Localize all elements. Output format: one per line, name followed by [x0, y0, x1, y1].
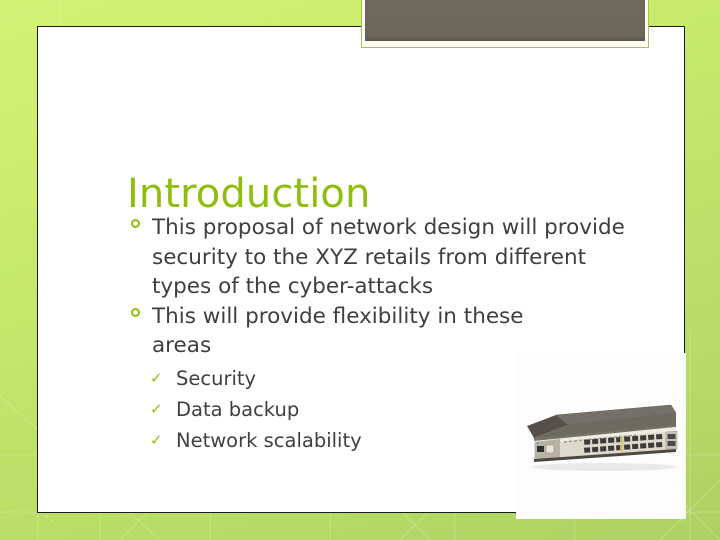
bullet-item-1: This proposal of network design will pro… [131, 213, 641, 302]
open-circle-bullet-icon [131, 213, 152, 228]
top-banner-image [365, 0, 645, 41]
check-mark-icon: ✓ [150, 425, 176, 456]
bullet-text-2: This will provide flexibility in these a… [152, 302, 572, 361]
network-switch-illustration [516, 353, 686, 519]
open-circle-bullet-icon [131, 302, 152, 317]
bullet-item-2: This will provide flexibility in these a… [131, 302, 641, 361]
bullet-text-1: This proposal of network design will pro… [152, 213, 632, 302]
slide-canvas: Introduction This proposal of network de… [37, 26, 685, 513]
sub-bullet-text-network-scalability: Network scalability [176, 425, 362, 456]
top-banner-photo-frame [361, 0, 649, 48]
sub-bullet-text-security: Security [176, 363, 256, 394]
check-mark-icon: ✓ [150, 363, 176, 394]
network-switch-photo [516, 353, 686, 519]
page-title: Introduction [127, 172, 370, 216]
sub-bullet-text-data-backup: Data backup [176, 394, 299, 425]
check-mark-icon: ✓ [150, 394, 176, 425]
